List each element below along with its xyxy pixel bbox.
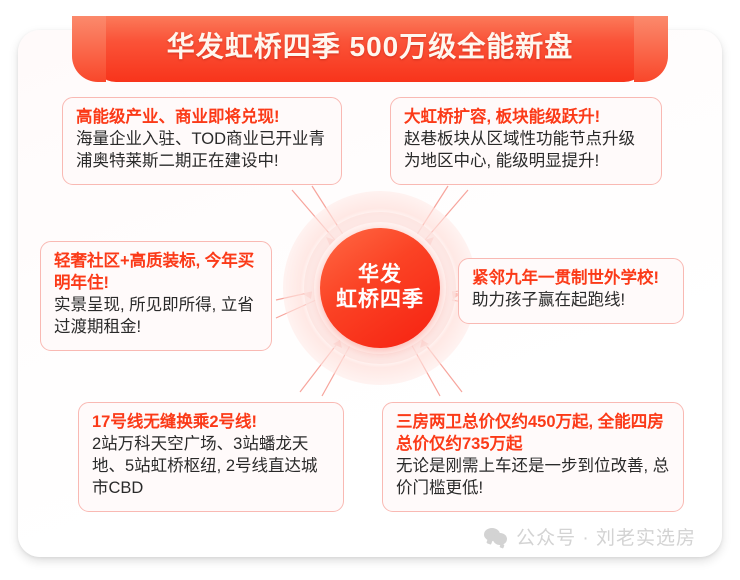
bubble-body: 赵巷板块从区域性功能节点升级为地区中心, 能级明显提升! <box>404 129 648 173</box>
bubble-headline: 17号线无缝换乘2号线! <box>92 412 330 434</box>
hub-core: 华发 虹桥四季 <box>320 228 440 348</box>
footer-attribution: 公众号 · 刘老实选房 <box>484 523 696 550</box>
hub-title-line1: 华发 <box>358 263 402 288</box>
bubble-body: 2站万科天空广场、3站蟠龙天地、5站虹桥枢纽, 2号线直达城市CBD <box>92 434 330 500</box>
bubble-hongqiao-expansion: 大虹桥扩容, 板块能级跃升! 赵巷板块从区域性功能节点升级为地区中心, 能级明显… <box>390 97 662 185</box>
bubble-body: 实景呈现, 所见即所得, 立省过渡期租金! <box>54 295 258 339</box>
bubble-community-decor: 轻奢社区+高质装标, 今年买明年住! 实景呈现, 所见即所得, 立省过渡期租金! <box>40 241 272 351</box>
banner-title: 华发虹桥四季 500万级全能新盘 <box>0 8 740 82</box>
wechat-icon <box>484 528 508 546</box>
bubble-headline: 大虹桥扩容, 板块能级跃升! <box>404 107 648 129</box>
bubble-industry-commerce: 高能级产业、商业即将兑现! 海量企业入驻、TOD商业已开业青浦奥特莱斯二期正在建… <box>62 97 342 185</box>
bubble-price: 三房两卫总价仅约450万起, 全能四房总价仅约735万起 无论是刚需上车还是一步… <box>382 402 684 512</box>
banner-ribbon: 华发虹桥四季 500万级全能新盘 <box>0 8 740 98</box>
poster-canvas: 华发 虹桥四季 高能级产业、商业即将兑现! 海量企业入驻、TOD商业已开业青浦奥… <box>0 0 740 580</box>
bubble-headline: 三房两卫总价仅约450万起, 全能四房总价仅约735万起 <box>396 412 670 456</box>
bubble-body: 助力孩子赢在起跑线! <box>472 290 670 312</box>
footer-text: 公众号 · 刘老实选房 <box>516 523 696 550</box>
bubble-school: 紧邻九年一贯制世外学校! 助力孩子赢在起跑线! <box>458 258 684 324</box>
bubble-headline: 高能级产业、商业即将兑现! <box>76 107 328 129</box>
center-hub: 华发 虹桥四季 <box>283 191 477 385</box>
bubble-body: 无论是刚需上车还是一步到位改善, 总价门槛更低! <box>396 456 670 500</box>
bubble-metro: 17号线无缝换乘2号线! 2站万科天空广场、3站蟠龙天地、5站虹桥枢纽, 2号线… <box>78 402 344 512</box>
bubble-headline: 紧邻九年一贯制世外学校! <box>472 268 670 290</box>
bubble-headline: 轻奢社区+高质装标, 今年买明年住! <box>54 251 258 295</box>
hub-title-line2: 虹桥四季 <box>336 288 424 313</box>
bubble-body: 海量企业入驻、TOD商业已开业青浦奥特莱斯二期正在建设中! <box>76 129 328 173</box>
